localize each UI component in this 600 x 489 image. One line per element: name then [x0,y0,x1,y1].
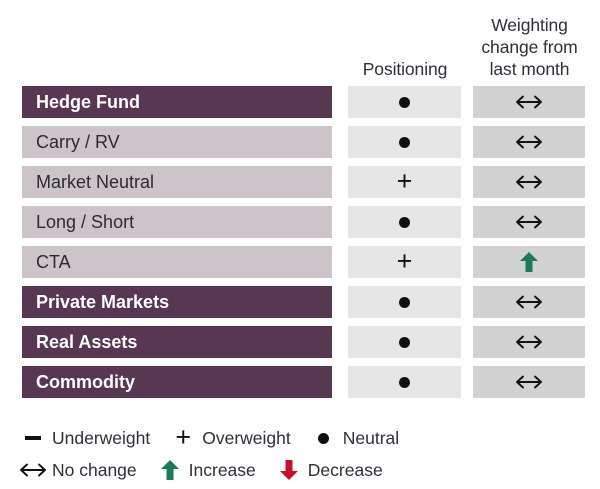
no-change-left-right-arrow-icon [514,93,544,111]
legend-label: No change [52,459,137,481]
neutral-dot-icon [399,137,410,148]
matrix-rows: Hedge FundCarry / RVMarket Neutral+Long … [0,86,600,398]
legend-label: Neutral [343,427,399,449]
weighting-header-line-2: change from [469,36,590,58]
weighting-change-cell [473,286,585,318]
column-headers: Positioning Weighting change from last m… [0,0,600,82]
underweight-minus-icon [25,436,41,440]
positioning-cell [348,86,461,118]
row-label-commodity: Commodity [22,366,332,398]
positioning-cell: + [348,166,461,198]
no-change-left-right-arrow-icon [514,293,544,311]
weighting-change-cell [473,126,585,158]
no-change-left-right-arrow-icon [514,173,544,191]
matrix-row: CTA+ [0,246,600,278]
down-arrow-icon [278,459,300,481]
legend-label: Underweight [52,427,150,449]
up-arrow-icon [159,459,181,481]
matrix-row: Commodity [0,366,600,398]
weighting-change-cell [473,206,585,238]
positioning-column-header: Positioning [344,58,466,80]
no-change-left-right-arrow-icon [514,333,544,351]
weighting-change-cell [473,326,585,358]
neutral-dot-icon [399,217,410,228]
weighting-header-line-3: last month [469,58,590,80]
matrix-row: Hedge Fund [0,86,600,118]
positioning-cell [348,326,461,358]
weighting-change-cell [473,366,585,398]
row-label-hedge-fund: Hedge Fund [22,86,332,118]
legend-item: Underweight [22,427,150,449]
matrix-row: Private Markets [0,286,600,318]
increase-up-arrow-icon [519,251,539,273]
legend-line-weighting: No changeIncreaseDecrease [22,454,582,486]
positioning-cell [348,206,461,238]
positioning-cell [348,286,461,318]
row-label-long-short: Long / Short [22,206,332,238]
matrix-row: Long / Short [0,206,600,238]
legend-line-positioning: Underweight+OverweightNeutral [22,422,582,454]
weighting-header-line-1: Weighting [469,14,590,36]
increase-up-arrow-icon [160,459,180,481]
row-label-private-markets: Private Markets [22,286,332,318]
overweight-plus-icon: + [397,248,413,275]
left-right-arrow-icon [22,459,44,481]
no-change-left-right-arrow-icon [514,133,544,151]
decrease-down-arrow-icon [279,459,299,481]
neutral-dot-icon [399,377,410,388]
row-label-carry-rv: Carry / RV [22,126,332,158]
plus-icon: + [172,427,194,449]
matrix-row: Market Neutral+ [0,166,600,198]
no-change-left-right-arrow-icon [514,373,544,391]
positioning-cell: + [348,246,461,278]
legend-label: Overweight [202,427,291,449]
positioning-cell [348,366,461,398]
legend-label: Increase [189,459,256,481]
overweight-plus-icon: + [397,168,413,195]
no-change-left-right-arrow-icon [18,461,48,479]
positioning-matrix-panel: Positioning Weighting change from last m… [0,0,600,489]
legend: Underweight+OverweightNeutral No changeI… [22,422,582,486]
neutral-dot-icon [399,297,410,308]
matrix-row: Carry / RV [0,126,600,158]
weighting-change-cell [473,246,585,278]
row-label-cta: CTA [22,246,332,278]
legend-item: Decrease [278,459,383,481]
row-label-market-neutral: Market Neutral [22,166,332,198]
overweight-plus-icon: + [175,424,191,451]
dot-icon [313,427,335,449]
neutral-dot-icon [399,97,410,108]
no-change-left-right-arrow-icon [514,213,544,231]
positioning-cell [348,126,461,158]
minus-icon [22,427,44,449]
legend-item: Neutral [313,427,399,449]
weighting-change-cell [473,86,585,118]
weighting-column-header: Weighting change from last month [469,14,590,80]
legend-item: +Overweight [172,427,291,449]
row-label-real-assets: Real Assets [22,326,332,358]
legend-label: Decrease [308,459,383,481]
matrix-row: Real Assets [0,326,600,358]
legend-item: Increase [159,459,256,481]
neutral-dot-icon [399,337,410,348]
legend-item: No change [22,459,137,481]
neutral-dot-icon [318,433,329,444]
weighting-change-cell [473,166,585,198]
